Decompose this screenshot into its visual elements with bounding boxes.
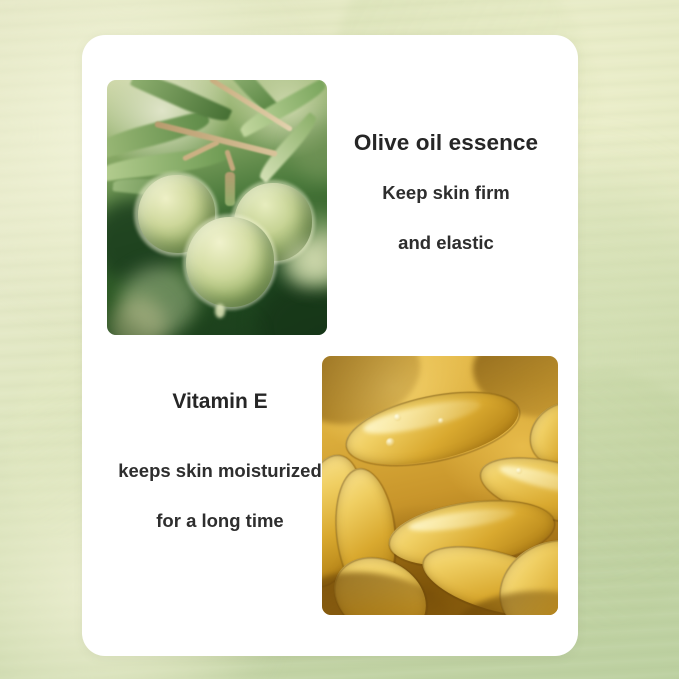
olive-drip [215, 304, 225, 318]
olive-branch-photo [107, 80, 327, 335]
capsule-droplet-1 [394, 414, 401, 421]
olive-oil-heading: Olive oil essence [330, 130, 562, 156]
olive-bokeh-9 [283, 240, 327, 286]
olive-oil-text-block: Olive oil essence Keep skin firm and ela… [330, 130, 562, 254]
vitamin-e-line-1: keeps skin moisturized [100, 460, 340, 482]
olive-fruit-center [186, 217, 274, 307]
vitamin-e-line-2: for a long time [100, 510, 340, 532]
olive-oil-line-1: Keep skin firm [330, 182, 562, 204]
vitamin-e-text-block: Vitamin E keeps skin moisturized for a l… [100, 390, 340, 532]
olive-oil-line-2: and elastic [330, 232, 562, 254]
capsule-droplet-4 [516, 468, 522, 474]
vitamin-e-heading: Vitamin E [100, 390, 340, 414]
capsule-droplet-3 [386, 438, 395, 447]
olive-stem [225, 172, 235, 206]
capsule-droplet-2 [438, 418, 444, 424]
vitamin-e-capsules-photo [322, 356, 558, 615]
product-benefits-card: Olive oil essence Keep skin firm and ela… [82, 35, 578, 656]
infographic-canvas: Olive oil essence Keep skin firm and ela… [0, 0, 679, 679]
